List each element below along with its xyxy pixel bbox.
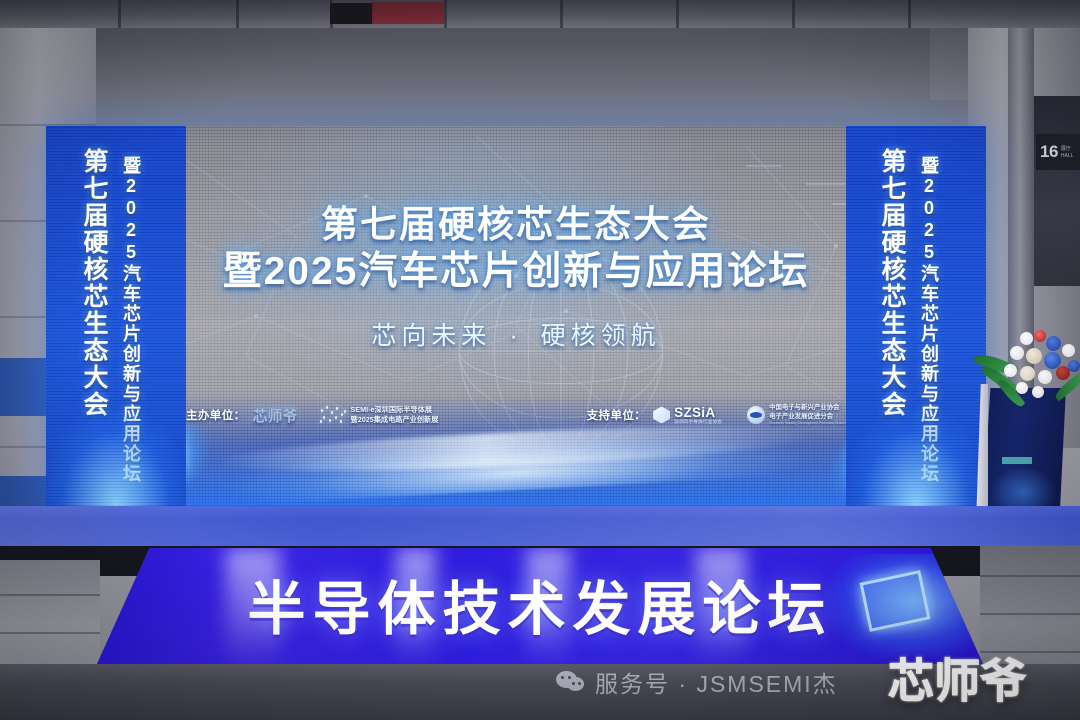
backdrop-title-line-2: 暨2025汽车芯片创新与应用论坛 xyxy=(186,250,846,294)
right-banner-pixel-grid xyxy=(846,126,986,506)
conference-stage-photo: 16 展厅 HALL xyxy=(0,0,1080,720)
ceiling-structure xyxy=(0,0,1080,28)
watermark-logo-xinshiye: 芯师爷 xyxy=(888,645,1026,711)
backdrop-subtitle-right: 硬核领航 xyxy=(541,322,661,350)
cfip-line-1: 中国电子与新兴产业协会 xyxy=(769,404,846,411)
flower-arrangement xyxy=(990,330,1080,414)
hall-doorway xyxy=(1034,96,1080,286)
backdrop-subtitle-left: 芯向未来 xyxy=(371,322,491,350)
stage-front-banner: 半导体技术发展论坛 xyxy=(96,548,984,666)
szsia-subtitle: 深圳市半导体行业协会 xyxy=(674,419,722,425)
semie-line-2: 暨2025集成电路产业创新展 xyxy=(351,416,439,424)
backdrop-subtitle: 芯向未来 · 硬核领航 xyxy=(186,316,846,352)
left-banner-pixel-grid xyxy=(46,126,186,506)
ceiling-dark-gap xyxy=(330,3,374,24)
organizer-label: 主办单位： xyxy=(186,407,246,423)
hall-sign-line-1: 展厅 xyxy=(1061,146,1074,152)
podium-glow xyxy=(990,466,1056,510)
stage-front-banner-text: 半导体技术发展论坛 xyxy=(96,562,984,646)
support-group: 支持单位： SZSiA 深圳市半导体行业协会 中国电子与新兴产业协会 电子产业发… xyxy=(587,404,846,425)
cfip-mark-icon xyxy=(747,406,765,424)
organizer-logo-xinshiye: 芯师爷 xyxy=(253,405,298,426)
cfip-line-tiny: Electronic Industry Development Promotio… xyxy=(769,421,846,425)
stage-platform-top xyxy=(0,506,1080,550)
semie-line-1: SEMI-e深圳国际半导体展 xyxy=(351,406,439,414)
hall-sign-line-2: HALL xyxy=(1061,153,1074,159)
backdrop-title-line-1: 第七届硬核芯生态大会 xyxy=(186,204,846,246)
support-label: 支持单位： xyxy=(587,407,647,423)
backdrop-subtitle-separator: · xyxy=(509,322,522,351)
backdrop-title-block: 第七届硬核芯生态大会 暨2025汽车芯片创新与应用论坛 xyxy=(186,204,846,295)
hall-number-sign: 16 展厅 HALL xyxy=(1036,134,1080,170)
semie-dot-mark-icon xyxy=(320,406,346,424)
organizer-group: 主办单位： 芯师爷 xyxy=(186,405,298,426)
szsia-name: SZSiA xyxy=(674,406,722,419)
semie-logo: SEMI-e深圳国际半导体展 暨2025集成电路产业创新展 xyxy=(320,406,439,424)
backdrop-center-panel: 第七届硬核芯生态大会 暨2025汽车芯片创新与应用论坛 芯向未来 · 硬核领航 xyxy=(186,126,846,506)
szsia-mark-icon xyxy=(653,406,670,423)
sponsor-bar: 主办单位： 芯师爷 SEMI-e深圳国际半导体展 暨2025集成电路产业创新展 … xyxy=(186,398,846,432)
ceiling-red-banner xyxy=(372,2,444,24)
hall-number-text: 16 xyxy=(1040,142,1058,162)
szsia-logo: SZSiA 深圳市半导体行业协会 xyxy=(653,406,722,425)
cfip-logo: 中国电子与新兴产业协会 电子产业发展促进分会 Electronic Indust… xyxy=(747,404,846,425)
podium-teal-tag xyxy=(1002,457,1032,464)
cfip-line-2: 电子产业发展促进分会 xyxy=(769,413,846,420)
wechat-icon xyxy=(556,670,586,694)
watermark-text: 服务号 · JSMSEMI杰 xyxy=(595,665,838,699)
right-vertical-banner: 第七届硬核芯生态大会 暨2025汽车芯片创新与应用论坛 xyxy=(846,126,986,506)
left-vertical-banner: 第七届硬核芯生态大会 暨2025汽车芯片创新与应用论坛 xyxy=(46,126,186,506)
